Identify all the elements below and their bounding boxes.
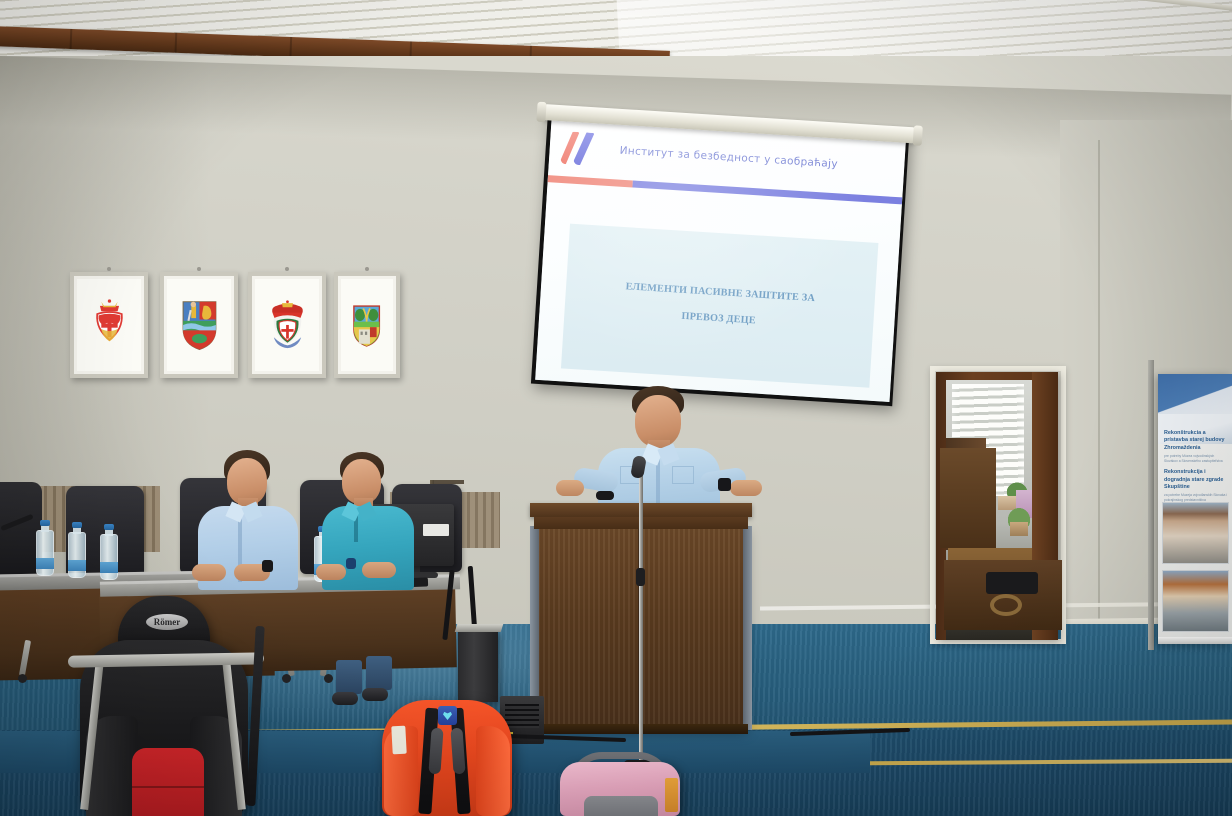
child-car-seat-orange bbox=[382, 700, 512, 816]
institute-logo-icon bbox=[561, 129, 603, 167]
projection-screen: Институт за безбедност у саобраћају ЕЛЕМ… bbox=[531, 112, 909, 406]
coa-vojvodina-art bbox=[179, 290, 220, 360]
coat-of-arms-greater-serbia bbox=[248, 272, 326, 378]
frame-nail bbox=[107, 267, 111, 271]
rollup-banner: Rekonštrukcia a prístavba starej budovy … bbox=[1158, 374, 1232, 644]
chair-caster bbox=[282, 674, 291, 683]
seat-badge bbox=[438, 706, 457, 725]
frame-nail bbox=[285, 267, 289, 271]
wristwatch bbox=[346, 558, 356, 569]
hand-left bbox=[556, 480, 584, 496]
frame-nail bbox=[197, 267, 201, 271]
carrier-shell bbox=[560, 762, 680, 816]
coa-greater-serbia-art bbox=[267, 290, 308, 360]
coa-serbia-art bbox=[89, 290, 130, 360]
shirt-pocket-right bbox=[672, 466, 694, 484]
pc-tower bbox=[458, 630, 498, 702]
shoe bbox=[332, 692, 358, 705]
romer-brand-badge: Römer bbox=[146, 614, 188, 630]
coat-of-arms-vojvodina bbox=[160, 272, 238, 378]
child-car-seat-romer: Römer bbox=[74, 596, 252, 816]
projection-screen-surface: Институт за безбедност у саобраћају ЕЛЕМ… bbox=[535, 117, 906, 402]
microphone-clamp bbox=[636, 568, 645, 586]
carrier-warning-label bbox=[665, 778, 678, 812]
banner-photo-building-2 bbox=[1162, 570, 1229, 632]
slide-body: ЕЛЕМЕНТИ ПАСИВНЕ ЗАШТИТЕ ЗА ПРЕВОЗ ДЕЦЕ bbox=[561, 224, 878, 388]
heart-icon bbox=[443, 711, 452, 720]
coiled-cable bbox=[990, 594, 1022, 616]
coat-of-arms-serbia bbox=[70, 272, 148, 378]
presentation-slide: Институт за безбедност у саобраћају ЕЛЕМ… bbox=[535, 117, 906, 402]
frame-nail bbox=[365, 267, 369, 271]
banner-heading-sk: Rekonštrukcia a prístavba starej budovy … bbox=[1164, 430, 1228, 452]
banner-pole bbox=[1148, 360, 1154, 650]
chair-caster bbox=[324, 674, 333, 683]
wristwatch bbox=[262, 560, 273, 572]
slide-title-line-1: ЕЛЕМЕНТИ ПАСИВНЕ ЗАШТИТЕ ЗА bbox=[625, 281, 815, 304]
carrier-interior bbox=[584, 796, 658, 816]
hand-left bbox=[316, 564, 346, 580]
microphone-stand bbox=[639, 466, 643, 766]
slide-organization-name: Институт за безбедност у саобраћају bbox=[619, 145, 838, 171]
hand-right bbox=[362, 562, 396, 578]
hand-left bbox=[192, 564, 226, 581]
banner-text-block: Rekonštrukcia a prístavba starej budovy … bbox=[1164, 430, 1228, 509]
banner-base bbox=[1158, 637, 1232, 644]
banner-photo-building-1 bbox=[1162, 502, 1229, 564]
side-plant-pot bbox=[1010, 522, 1028, 536]
harness-pad-left bbox=[428, 728, 443, 775]
banner-subtext-sk: pre potreby Múzea vojvodinských Slovákov… bbox=[1164, 454, 1228, 464]
wristwatch bbox=[718, 478, 731, 491]
lectern-microphone bbox=[596, 491, 614, 500]
seated-man-turquoise-polo bbox=[316, 452, 432, 588]
coat-of-arms-municipal bbox=[334, 272, 400, 378]
seat-shell bbox=[382, 700, 512, 816]
coa-municipal-art bbox=[350, 290, 383, 360]
wall-seam bbox=[1098, 140, 1100, 640]
banner-heading-sr: Rekonstrukcija i dogradnja stare zgrade … bbox=[1164, 469, 1228, 491]
trouser-leg bbox=[336, 660, 362, 694]
hand-right bbox=[730, 480, 762, 496]
side-equipment bbox=[986, 572, 1038, 594]
slide-title-line-2: ПРЕВОЗ ДЕЦЕ bbox=[681, 311, 756, 327]
seat-red-cushion bbox=[132, 748, 204, 816]
conference-room-photo: Институт за безбедност у саобраћају ЕЛЕМ… bbox=[0, 0, 1232, 816]
chair-caster bbox=[18, 674, 27, 683]
side-cabinet bbox=[940, 448, 996, 548]
seat-label-tag bbox=[391, 726, 406, 755]
infant-carrier-pink bbox=[560, 752, 680, 816]
seated-man-blue-shirt bbox=[186, 450, 306, 590]
trouser-leg bbox=[366, 656, 392, 690]
seat-side-wing bbox=[476, 726, 510, 816]
speaker-at-lectern bbox=[560, 386, 760, 516]
